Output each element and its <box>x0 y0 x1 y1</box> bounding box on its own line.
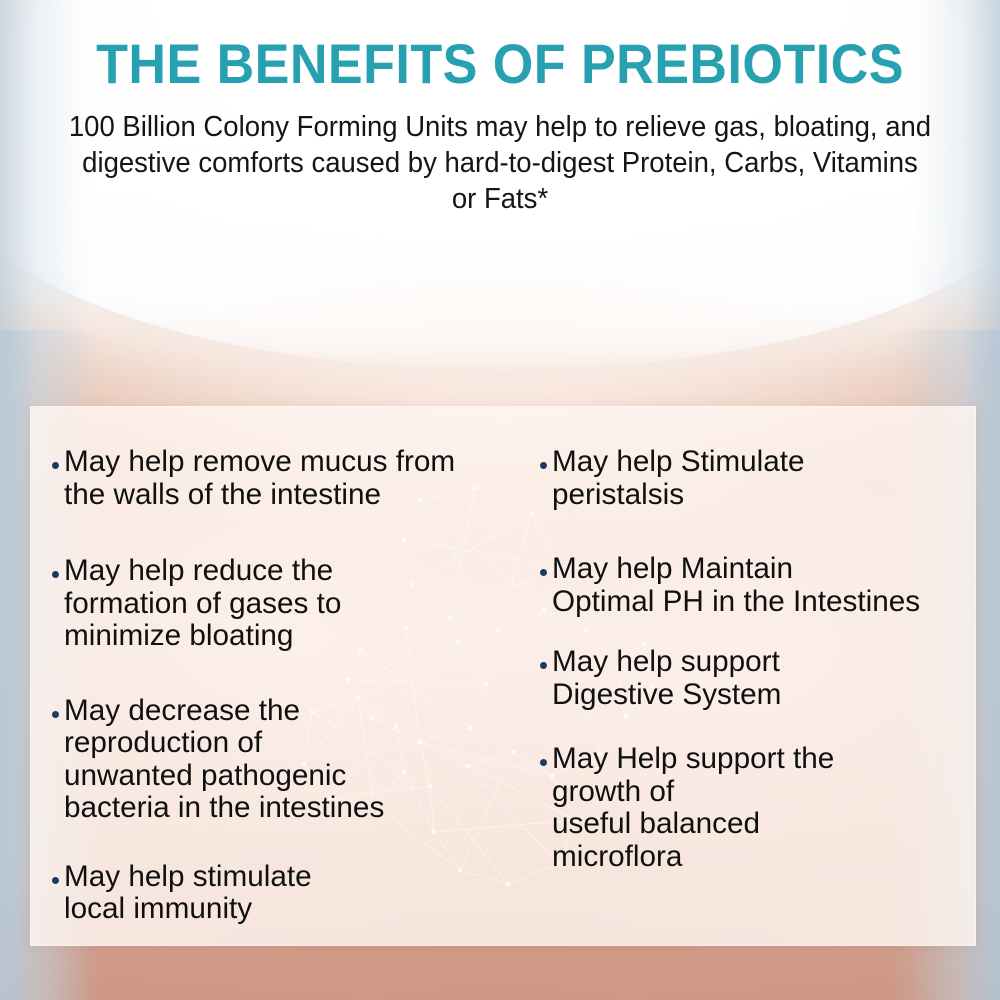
list-item-label: May decrease the reproduction of unwante… <box>64 695 536 825</box>
bullet-dot-icon <box>52 711 59 718</box>
benefits-panel: May help remove mucus from the walls of … <box>30 406 976 946</box>
benefits-column-left: May help remove mucus from the walls of … <box>30 406 540 946</box>
bullet-dot-icon <box>540 759 547 766</box>
bullet-dot-icon <box>540 662 547 669</box>
list-item: May Help support the growth of useful ba… <box>540 743 976 873</box>
benefits-columns: May help remove mucus from the walls of … <box>30 406 976 946</box>
bullet-dot-icon <box>540 569 547 576</box>
page-subtitle: 100 Billion Colony Forming Units may hel… <box>68 110 933 218</box>
bullet-dot-icon <box>52 462 59 469</box>
list-item: May help remove mucus from the walls of … <box>52 446 540 511</box>
list-item-label: May help Stimulate peristalsis <box>552 446 971 511</box>
list-item-label: May help remove mucus from the walls of … <box>64 446 536 511</box>
list-item-label: May Help support the growth of useful ba… <box>552 743 971 873</box>
list-item-label: May help Maintain Optimal PH in the Inte… <box>552 553 971 618</box>
list-item: May decrease the reproduction of unwante… <box>52 695 540 825</box>
list-item: May help Maintain Optimal PH in the Inte… <box>540 553 976 618</box>
page-title: THE BENEFITS OF PREBIOTICS <box>35 36 965 92</box>
list-item: May help Stimulate peristalsis <box>540 446 976 511</box>
benefits-column-right: May help Stimulate peristalsis May help … <box>540 406 976 946</box>
list-item: May help stimulate local immunity <box>52 861 540 926</box>
prebiotics-benefits-poster: THE BENEFITS OF PREBIOTICS 100 Billion C… <box>0 0 1000 1000</box>
list-item-label: May help support Digestive System <box>552 646 971 711</box>
list-item-label: May help reduce the formation of gases t… <box>64 555 536 653</box>
list-item: May help support Digestive System <box>540 646 976 711</box>
bullet-dot-icon <box>540 462 547 469</box>
list-item-label: May help stimulate local immunity <box>64 861 536 926</box>
list-item: May help reduce the formation of gases t… <box>52 555 540 653</box>
bullet-dot-icon <box>52 571 59 578</box>
bullet-dot-icon <box>52 877 59 884</box>
